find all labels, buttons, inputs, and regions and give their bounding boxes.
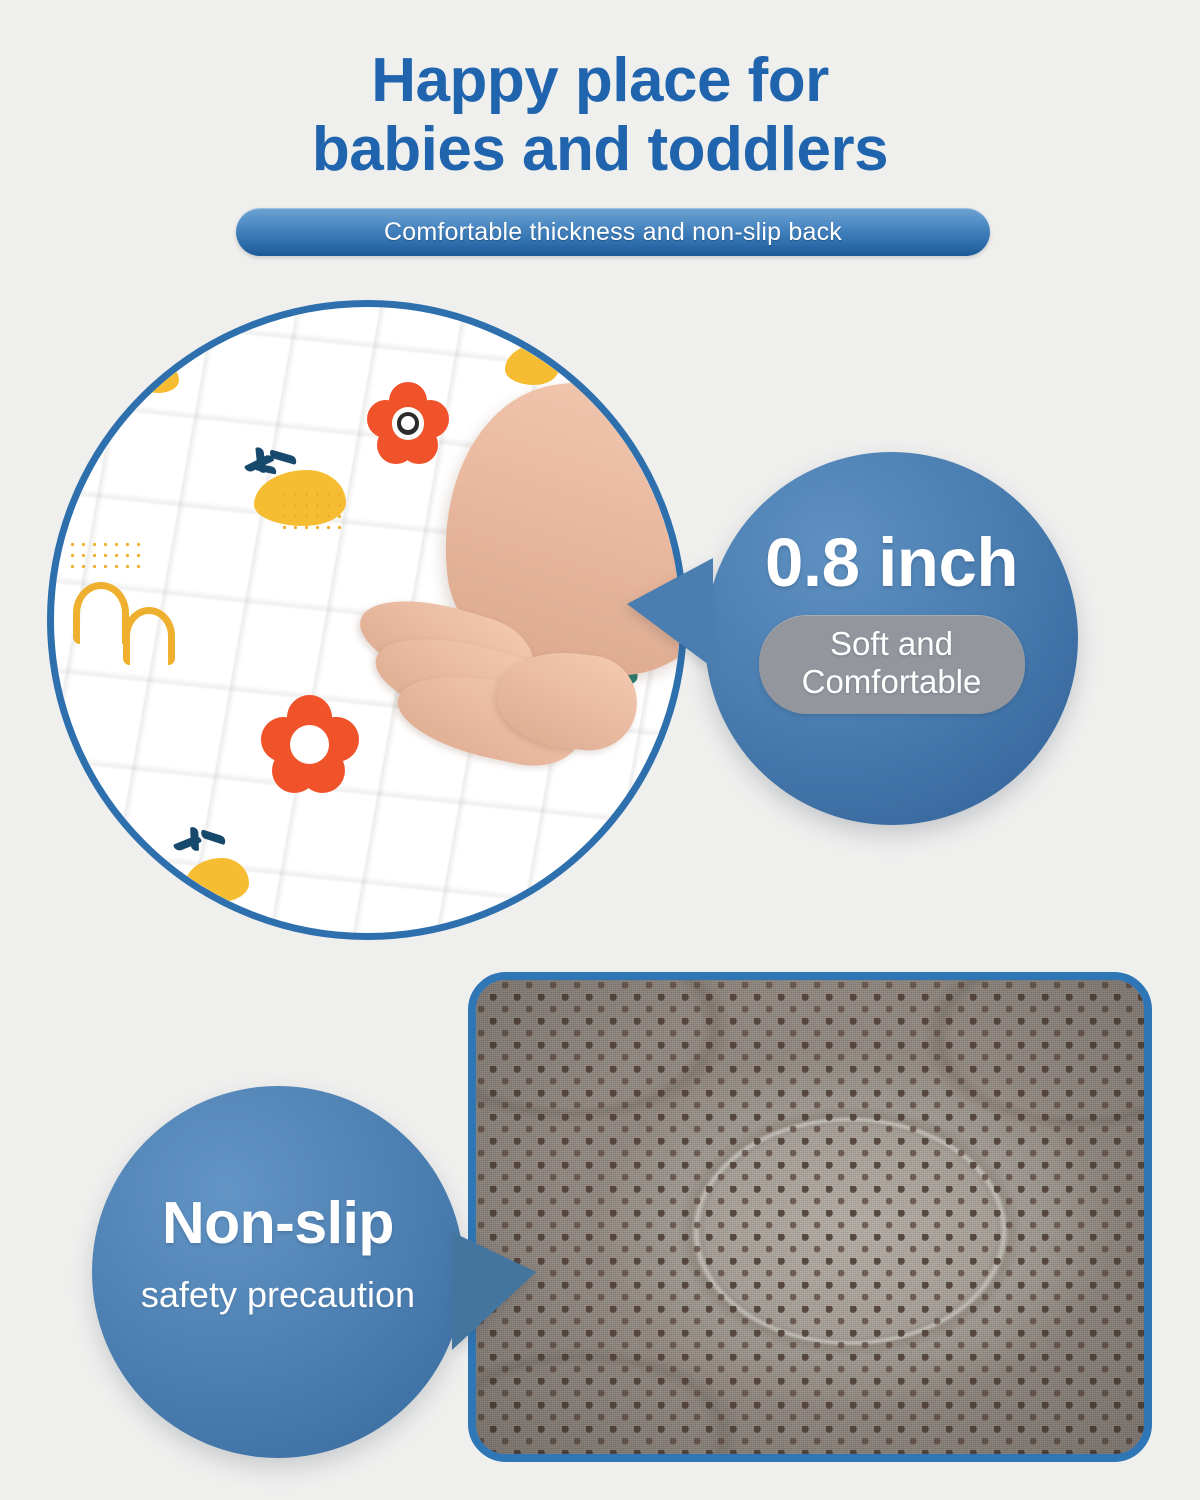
subtitle-badge: Comfortable thickness and non-slip back bbox=[236, 208, 990, 256]
yellow-outline-doodle bbox=[73, 582, 129, 644]
subtitle-badge-label: Comfortable thickness and non-slip back bbox=[384, 218, 842, 247]
fruit-leaf-motif bbox=[173, 827, 239, 859]
page-title-line-2: babies and toddlers bbox=[0, 115, 1200, 184]
non-slip-subtitle: safety precaution bbox=[141, 1277, 415, 1313]
yellow-dot-doodle bbox=[67, 539, 145, 569]
non-slip-title: Non-slip bbox=[162, 1194, 394, 1253]
thickness-value: 0.8 inch bbox=[765, 528, 1018, 597]
callout-tail-pointer bbox=[452, 1232, 536, 1350]
page-title: Happy place for babies and toddlers bbox=[0, 46, 1200, 185]
mattress-top-surface-photo bbox=[47, 300, 687, 940]
thickness-subtitle-pill: Soft and Comfortable bbox=[759, 615, 1025, 714]
thickness-subtitle-line-1: Soft and bbox=[759, 625, 1025, 663]
fruit-leaf-motif bbox=[242, 445, 312, 479]
thickness-subtitle-line-2: Comfortable bbox=[759, 663, 1025, 701]
photo-inner bbox=[54, 307, 680, 933]
infographic-page: Happy place for babies and toddlers Comf… bbox=[0, 0, 1200, 1500]
yellow-outline-doodle bbox=[123, 607, 175, 665]
callout-tail-pointer bbox=[627, 558, 713, 668]
page-title-line-1: Happy place for bbox=[0, 46, 1200, 115]
non-slip-callout-bubble: Non-slip safety precaution bbox=[92, 1086, 464, 1458]
fruit-dot-texture bbox=[279, 489, 341, 529]
mattress-grip-backing-photo bbox=[468, 972, 1152, 1462]
thickness-callout-bubble: 0.8 inch Soft and Comfortable bbox=[705, 452, 1078, 825]
yellow-fruit-motif bbox=[135, 363, 179, 393]
photo-inner bbox=[476, 980, 1144, 1454]
photo-vignette bbox=[476, 980, 1144, 1454]
